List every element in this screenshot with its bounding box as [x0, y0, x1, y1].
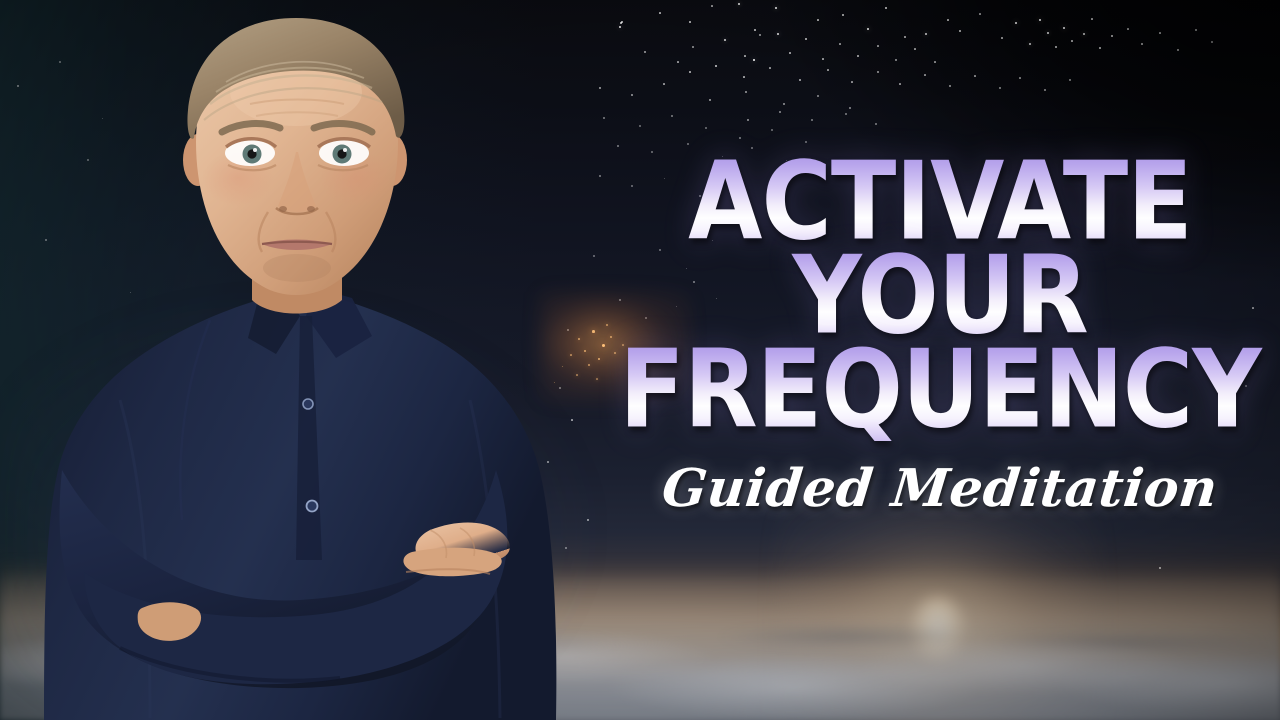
thumbnail-canvas: ACTIVATE YOUR FREQUENCY Guided Meditatio…: [0, 0, 1280, 720]
title-block: ACTIVATE YOUR FREQUENCY Guided Meditatio…: [600, 150, 1280, 620]
subtitle-text: Guided Meditation: [597, 458, 1280, 519]
subject-portrait: [0, 0, 600, 720]
title-line-3: FREQUENCY: [600, 338, 1280, 441]
